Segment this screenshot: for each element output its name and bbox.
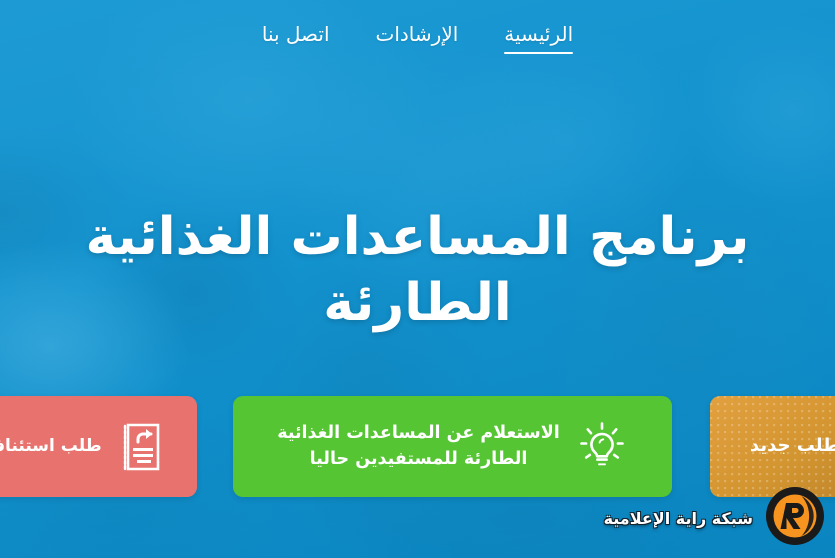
- appeal-request-card[interactable]: طلب استئناف: [0, 396, 197, 497]
- page-root: الرئيسية الإرشادات اتصل بنا برنامج المسا…: [0, 0, 835, 558]
- lightbulb-icon: [576, 420, 628, 474]
- inquiry-label: الاستعلام عن المساعدات الغذائية الطارئة …: [277, 421, 560, 472]
- top-navigation: الرئيسية الإرشادات اتصل بنا: [0, 0, 835, 84]
- nav-list: الرئيسية الإرشادات اتصل بنا: [262, 21, 573, 64]
- hero-section: برنامج المساعدات الغذائية الطارئة: [0, 205, 835, 336]
- action-cards-row: طلب استئناف: [0, 396, 835, 497]
- document-return-icon: [118, 422, 162, 472]
- inquiry-card[interactable]: الاستعلام عن المساعدات الغذائية الطارئة …: [233, 396, 672, 497]
- nav-item-guidelines-label: الإرشادات: [376, 22, 459, 46]
- nav-item-contact-us[interactable]: اتصل بنا: [262, 21, 330, 54]
- watermark: شبكة راية الإعلامية: [604, 484, 827, 552]
- watermark-text: شبكة راية الإعلامية: [604, 509, 753, 528]
- nav-item-home-label: الرئيسية: [504, 22, 573, 46]
- nav-item-home[interactable]: الرئيسية: [504, 21, 573, 54]
- new-request-label: طلب جديد: [750, 433, 835, 459]
- page-title: برنامج المساعدات الغذائية الطارئة: [48, 205, 788, 336]
- nav-item-guidelines[interactable]: الإرشادات: [376, 21, 459, 54]
- raya-logo-icon: [763, 484, 827, 552]
- nav-item-contact-us-label: اتصل بنا: [262, 22, 330, 46]
- appeal-request-label: طلب استئناف: [0, 434, 102, 459]
- new-request-card[interactable]: طلب جديد: [710, 396, 835, 497]
